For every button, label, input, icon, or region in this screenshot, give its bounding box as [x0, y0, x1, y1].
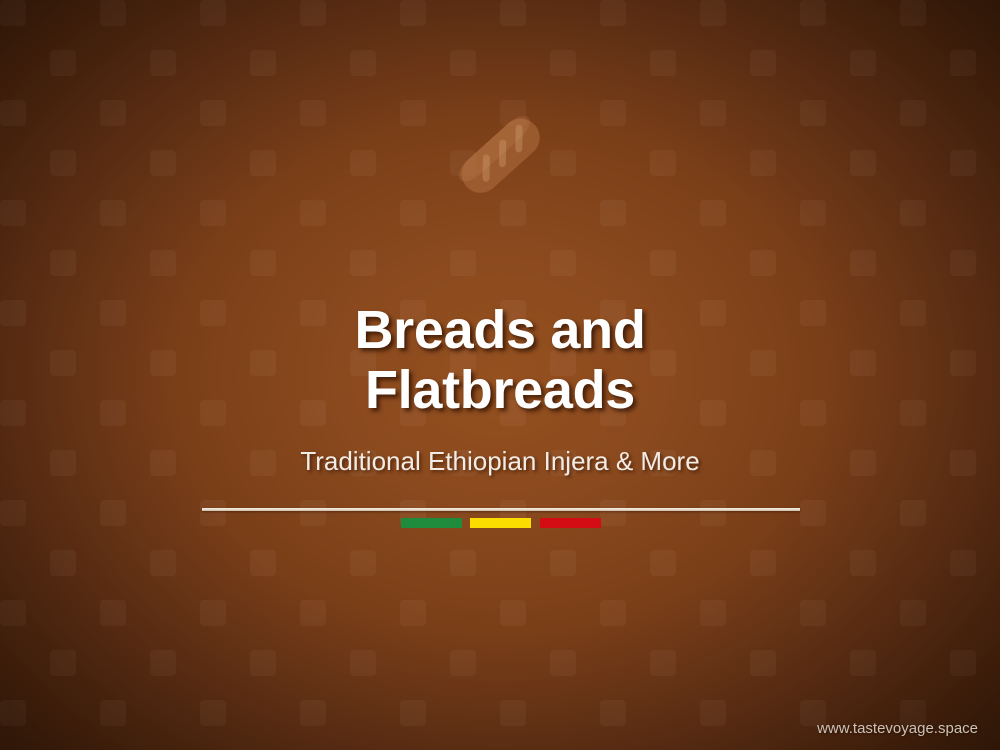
accent-bar-group [401, 518, 601, 528]
accent-bar-red [540, 518, 601, 528]
accent-bar-yellow [470, 518, 531, 528]
footer-website-url: www.tastevoyage.space [817, 720, 978, 737]
page-title: Breads and Flatbreads [0, 300, 1000, 420]
bread-loaf-icon [440, 95, 560, 215]
title-slide: Breads and Flatbreads Traditional Ethiop… [0, 0, 1000, 750]
title-divider [202, 508, 800, 511]
accent-bar-green [401, 518, 462, 528]
page-subtitle: Traditional Ethiopian Injera & More [0, 446, 1000, 477]
